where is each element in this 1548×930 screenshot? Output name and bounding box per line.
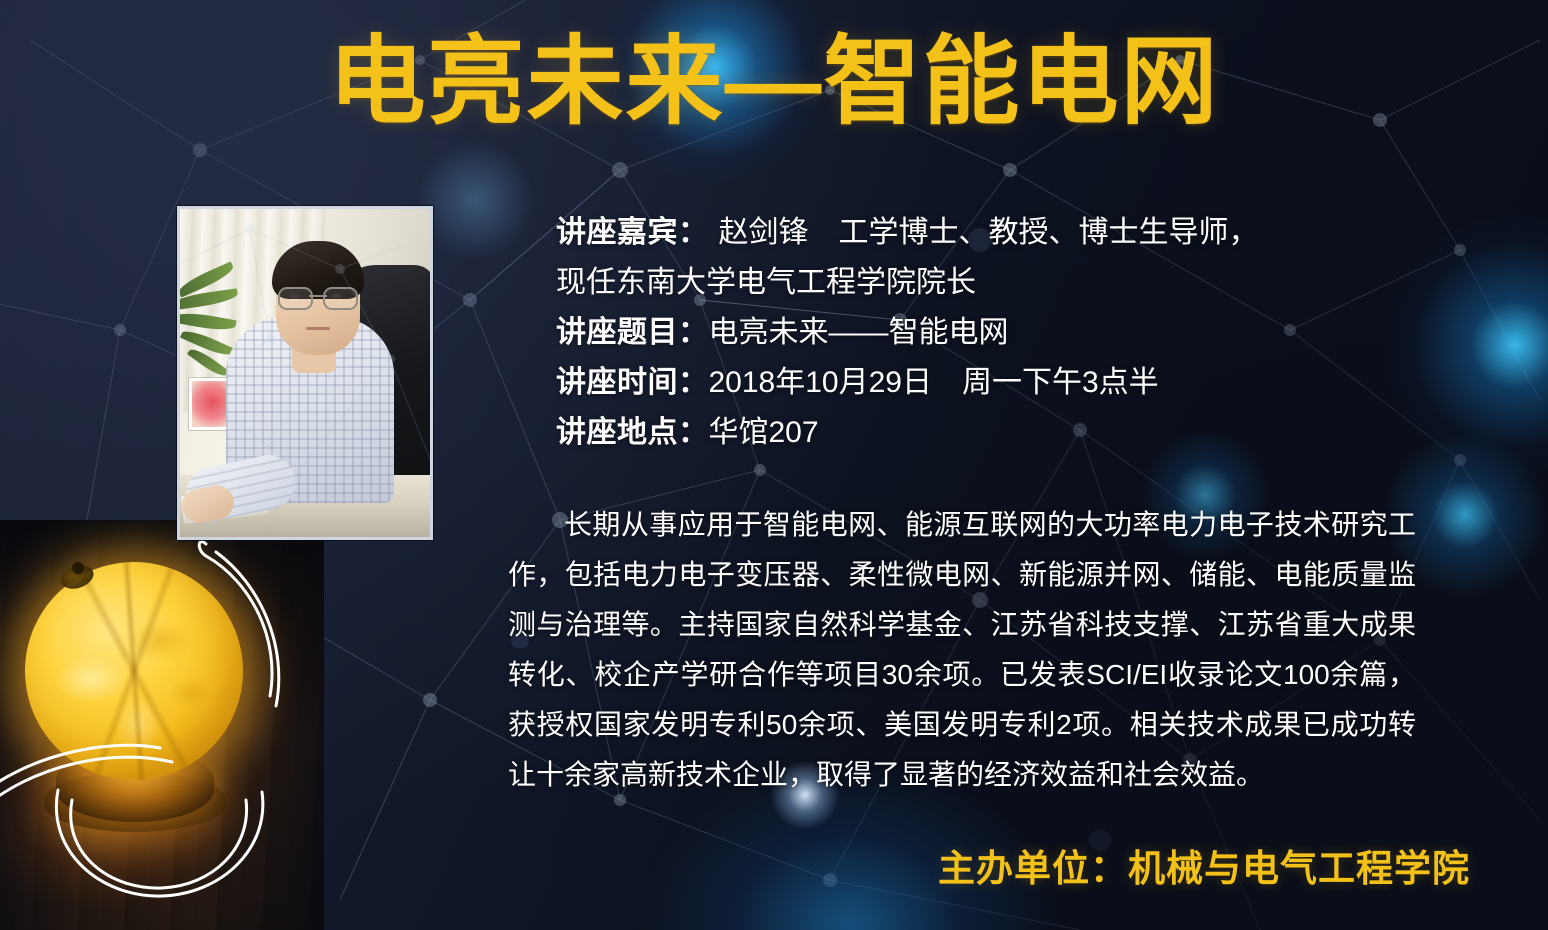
organizer-footer: 主办单位：机械与电气工程学院 (938, 838, 1470, 892)
info-value-topic: 电亮未来——智能电网 (709, 316, 1009, 349)
info-label-location: 讲座地点： (556, 416, 709, 449)
info-value-time: 2018年10月29日 周一下午3点半 (709, 366, 1159, 399)
info-value-guest-position: 现任东南大学电气工程学院院长 (556, 266, 976, 299)
info-label-time: 讲座时间： (556, 366, 709, 399)
info-row-guest: 讲座嘉宾：赵剑锋 工学博士、教授、博士生导师， (556, 208, 1416, 258)
photo-network-overlay (180, 209, 430, 537)
info-row-topic: 讲座题目：电亮未来——智能电网 (556, 308, 1416, 358)
poster-canvas: 电亮未来—智能电网 讲座嘉宾：赵剑锋 工学博士、教授、博士生导师， 现任东南大学… (0, 0, 1548, 930)
info-row-time: 讲座时间：2018年10月29日 周一下午3点半 (556, 358, 1416, 408)
speaker-biography: 长期从事应用于智能电网、能源互联网的大功率电力电子技术研究工作，包括电力电子变压… (508, 500, 1416, 800)
globe-sphere (25, 562, 243, 780)
info-value-location: 华馆207 (709, 416, 819, 449)
info-row-location: 讲座地点：华馆207 (556, 408, 1416, 458)
info-label-guest: 讲座嘉宾： (556, 216, 709, 249)
poster-title: 电亮未来—智能电网 (0, 30, 1548, 135)
info-row-guest-position: 现任东南大学电气工程学院院长 (556, 258, 1416, 308)
globe-lamp-image (0, 520, 324, 930)
info-value-guest: 赵剑锋 工学博士、教授、博士生导师， (719, 216, 1259, 249)
speaker-portrait-photo (177, 206, 433, 540)
info-label-topic: 讲座题目： (556, 316, 709, 349)
lecture-info-block: 讲座嘉宾：赵剑锋 工学博士、教授、博士生导师， 现任东南大学电气工程学院院长 讲… (556, 208, 1416, 458)
